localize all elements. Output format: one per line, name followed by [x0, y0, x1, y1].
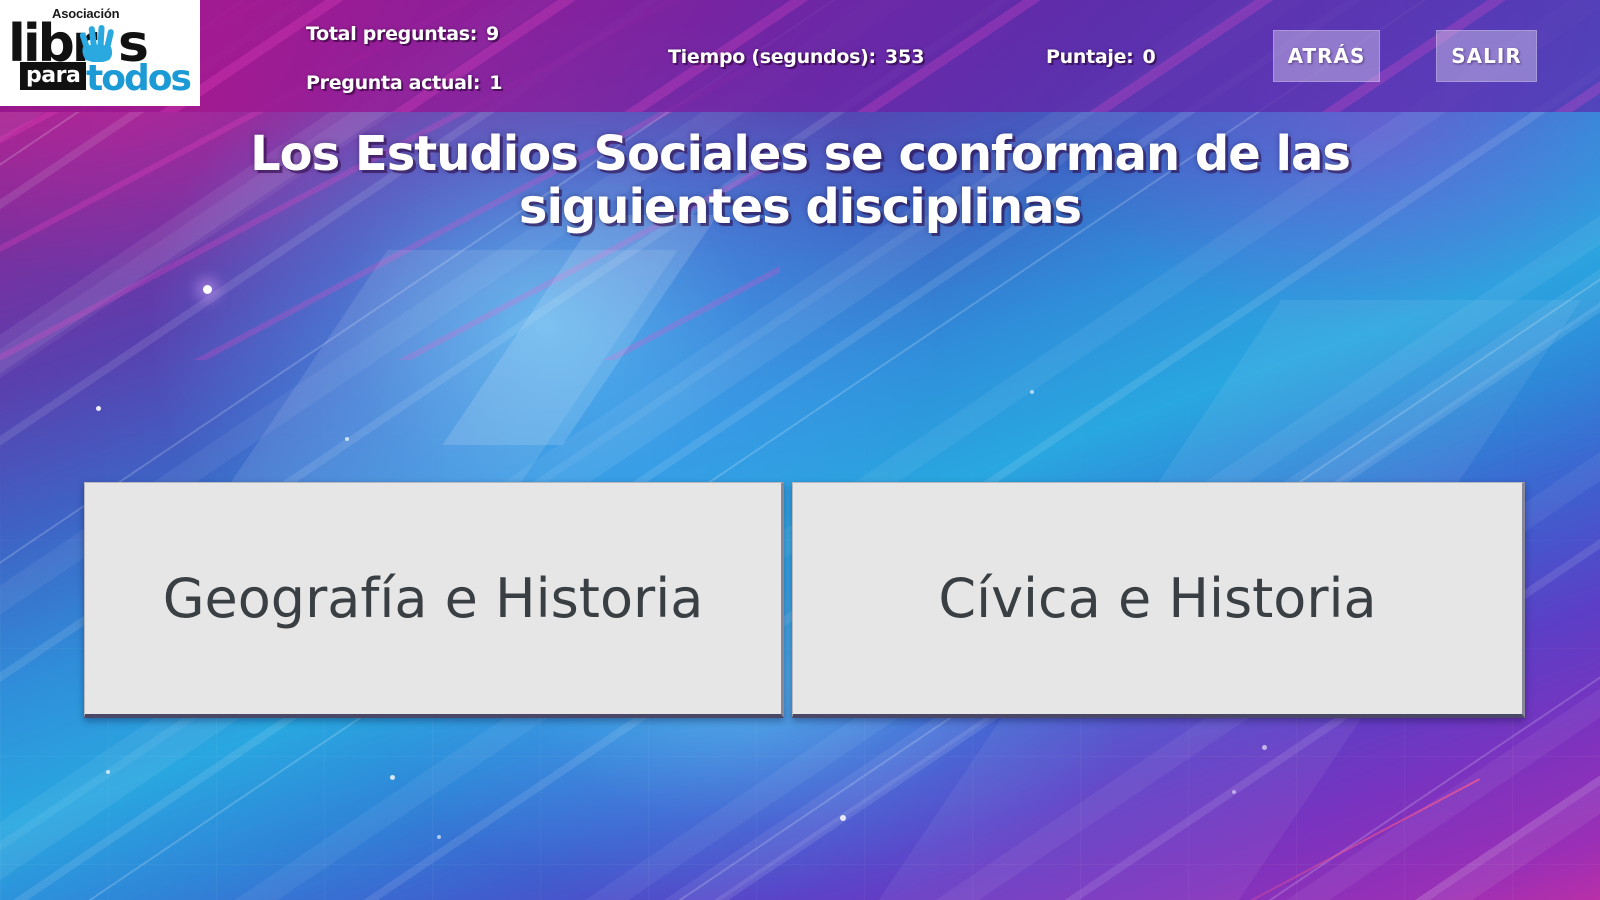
sparkle-dot — [1262, 745, 1267, 750]
logo-text-para: para — [20, 62, 86, 90]
stat-label: Puntaje: — [1046, 46, 1133, 68]
stat-value: 0 — [1142, 46, 1155, 68]
stat-time-seconds: Tiempo (segundos):353 — [668, 46, 924, 68]
question-text: Los Estudios Sociales se conforman de la… — [135, 128, 1465, 234]
answer-option-0[interactable]: Geografía e Historia — [84, 482, 784, 718]
sparkle-dot — [840, 815, 846, 821]
stat-value: 1 — [489, 72, 502, 94]
answer-option-1[interactable]: Cívica e Historia — [792, 482, 1525, 718]
sparkle-dot — [203, 285, 212, 294]
hand-icon — [78, 20, 118, 62]
answer-options: Geografía e Historia Cívica e Historia — [84, 482, 1525, 718]
stat-value: 9 — [486, 23, 499, 45]
stat-label: Pregunta actual: — [306, 72, 480, 94]
header-bar: Asociación libr s para todos Total pre — [0, 0, 1600, 112]
back-button[interactable]: ATRÁS — [1273, 30, 1380, 82]
sparkle-dot — [390, 775, 395, 780]
sparkle-dot — [1232, 790, 1236, 794]
stat-current-question: Pregunta actual:1 — [306, 72, 502, 94]
stat-score: Puntaje:0 — [1046, 46, 1156, 68]
logo-text-todos: todos — [86, 58, 190, 99]
stat-total-questions: Total preguntas:9 — [306, 23, 499, 45]
sparkle-dot — [106, 770, 110, 774]
sparkle-dot — [1030, 390, 1034, 394]
sparkle-dot — [345, 437, 349, 441]
stat-value: 353 — [885, 46, 925, 68]
stat-label: Total preguntas: — [306, 23, 477, 45]
sparkle-dot — [96, 406, 101, 411]
sparkle-dot — [437, 835, 441, 839]
stat-label: Tiempo (segundos): — [668, 46, 876, 68]
exit-button[interactable]: SALIR — [1436, 30, 1537, 82]
logo-asociacion-libros-para-todos: Asociación libr s para todos — [0, 0, 200, 106]
